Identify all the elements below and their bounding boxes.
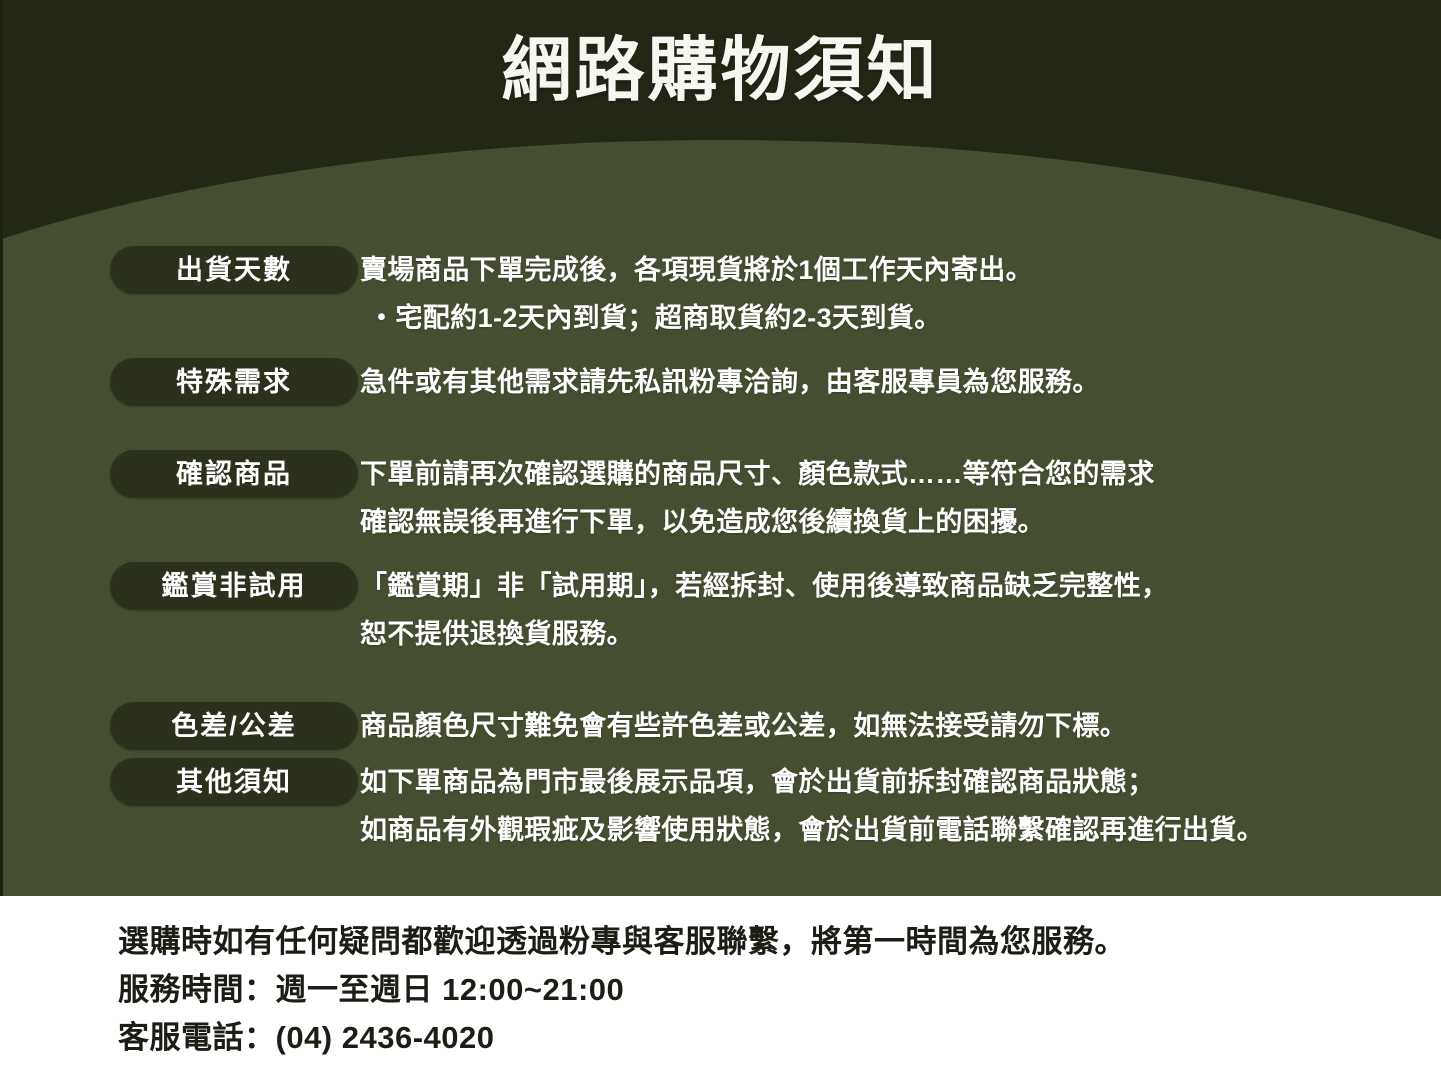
row-spacer (0, 546, 1441, 562)
notice-text-line: 商品顏色尺寸難免會有些許色差或公差，如無法接受請勿下標。 (360, 702, 1441, 750)
notice-row-color-tolerance: 色差/公差 商品顏色尺寸難免會有些許色差或公差，如無法接受請勿下標。 (0, 702, 1441, 750)
body-cell: 如下單商品為門市最後展示品項，會於出貨前拆封確認商品狀態； 如商品有外觀瑕疵及影… (360, 758, 1441, 854)
notice-rows: 出貨天數 賣場商品下單完成後，各項現貨將於1個工作天內寄出。 ・宅配約1-2天內… (0, 246, 1441, 854)
notice-text-line: ・宅配約1-2天內到貨；超商取貨約2-3天到貨。 (360, 294, 1441, 342)
label-pill-inspection-not-trial[interactable]: 鑑賞非試用 (110, 562, 358, 610)
notice-row-confirm-product: 確認商品 下單前請再次確認選購的商品尺寸、顏色款式……等符合您的需求 確認無誤後… (0, 450, 1441, 546)
notice-row-special-requests: 特殊需求 急件或有其他需求請先私訊粉專洽詢，由客服專員為您服務。 (0, 358, 1441, 406)
notice-text-line: 急件或有其他需求請先私訊粉專洽詢，由客服專員為您服務。 (360, 358, 1441, 406)
footer-contact-invitation: 選購時如有任何疑問都歡迎透過粉專與客服聯繫，將第一時間為您服務。 (118, 918, 1441, 966)
pill-cell: 鑑賞非試用 (0, 562, 360, 610)
row-spacer (0, 658, 1441, 702)
pill-cell: 確認商品 (0, 450, 360, 498)
body-cell: 商品顏色尺寸難免會有些許色差或公差，如無法接受請勿下標。 (360, 702, 1441, 750)
pill-cell: 色差/公差 (0, 702, 360, 750)
label-pill-confirm-product[interactable]: 確認商品 (110, 450, 358, 498)
notice-row-shipping-days: 出貨天數 賣場商品下單完成後，各項現貨將於1個工作天內寄出。 ・宅配約1-2天內… (0, 246, 1441, 342)
footer-service-hours: 服務時間：週一至週日 12:00~21:00 (118, 966, 1441, 1014)
pill-cell: 出貨天數 (0, 246, 360, 294)
footer-service-phone[interactable]: 客服電話：(04) 2436-4020 (118, 1014, 1441, 1062)
body-cell: 賣場商品下單完成後，各項現貨將於1個工作天內寄出。 ・宅配約1-2天內到貨；超商… (360, 246, 1441, 342)
pill-cell: 其他須知 (0, 758, 360, 806)
body-cell: 「鑑賞期」非「試用期」，若經拆封、使用後導致商品缺乏完整性， 恕不提供退換貨服務… (360, 562, 1441, 658)
notice-text-line: 下單前請再次確認選購的商品尺寸、顏色款式……等符合您的需求 (360, 450, 1441, 498)
notice-text-line: 恕不提供退換貨服務。 (360, 610, 1441, 658)
notice-row-inspection-not-trial: 鑑賞非試用 「鑑賞期」非「試用期」，若經拆封、使用後導致商品缺乏完整性， 恕不提… (0, 562, 1441, 658)
notice-page: 網路購物須知 出貨天數 賣場商品下單完成後，各項現貨將於1個工作天內寄出。 ・宅… (0, 0, 1441, 1080)
body-cell: 急件或有其他需求請先私訊粉專洽詢，由客服專員為您服務。 (360, 358, 1441, 406)
notice-text-line: 「鑑賞期」非「試用期」，若經拆封、使用後導致商品缺乏完整性， (360, 562, 1441, 610)
notice-row-other-notes: 其他須知 如下單商品為門市最後展示品項，會於出貨前拆封確認商品狀態； 如商品有外… (0, 758, 1441, 854)
label-pill-special-requests[interactable]: 特殊需求 (110, 358, 358, 406)
notice-text-line: 如商品有外觀瑕疵及影響使用狀態，會於出貨前電話聯繫確認再進行出貨。 (360, 806, 1441, 854)
row-spacer (0, 750, 1441, 758)
page-title: 網路購物須知 (0, 23, 1441, 117)
row-spacer (0, 342, 1441, 358)
row-spacer (0, 406, 1441, 450)
label-pill-color-tolerance[interactable]: 色差/公差 (110, 702, 358, 750)
notice-text-line: 確認無誤後再進行下單，以免造成您後續換貨上的困擾。 (360, 498, 1441, 546)
notice-text-line: 賣場商品下單完成後，各項現貨將於1個工作天內寄出。 (360, 246, 1441, 294)
hero-panel: 網路購物須知 出貨天數 賣場商品下單完成後，各項現貨將於1個工作天內寄出。 ・宅… (0, 0, 1441, 896)
label-pill-shipping-days[interactable]: 出貨天數 (110, 246, 358, 294)
contact-footer: 選購時如有任何疑問都歡迎透過粉專與客服聯繫，將第一時間為您服務。 服務時間：週一… (0, 896, 1441, 1080)
body-cell: 下單前請再次確認選購的商品尺寸、顏色款式……等符合您的需求 確認無誤後再進行下單… (360, 450, 1441, 546)
pill-cell: 特殊需求 (0, 358, 360, 406)
label-pill-other-notes[interactable]: 其他須知 (110, 758, 358, 806)
notice-text-line: 如下單商品為門市最後展示品項，會於出貨前拆封確認商品狀態； (360, 758, 1441, 806)
